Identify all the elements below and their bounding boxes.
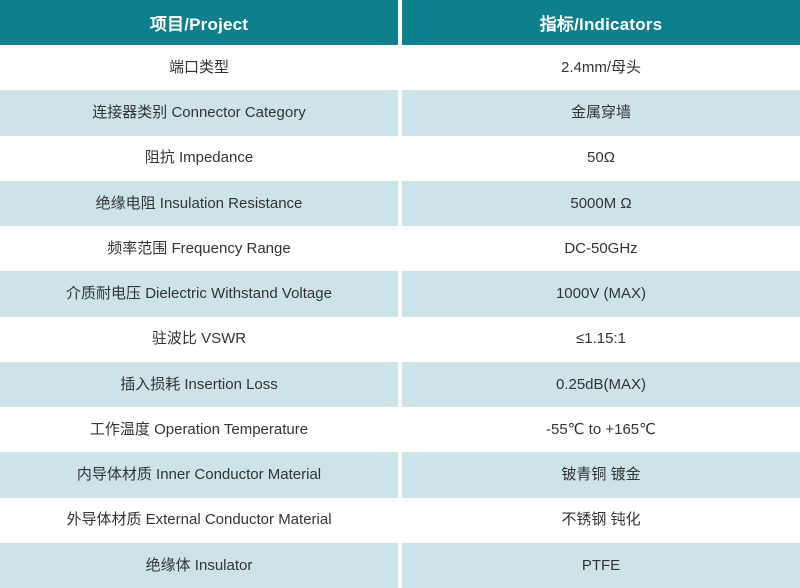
table-row: 介质耐电压 Dielectric Withstand Voltage1000V … — [0, 271, 800, 316]
cell-project: 介质耐电压 Dielectric Withstand Voltage — [0, 271, 398, 316]
cell-indicator: 不锈钢 钝化 — [402, 498, 800, 543]
cell-project: 阻抗 Impedance — [0, 136, 398, 181]
cell-indicator: 铍青铜 镀金 — [402, 452, 800, 497]
cell-project: 工作温度 Operation Temperature — [0, 407, 398, 452]
table-row: 插入损耗 Insertion Loss0.25dB(MAX) — [0, 362, 800, 407]
cell-project: 端口类型 — [0, 45, 398, 90]
table-body: 端口类型2.4mm/母头连接器类别 Connector Category金属穿墙… — [0, 45, 800, 588]
cell-indicator: 0.25dB(MAX) — [402, 362, 800, 407]
table-row: 阻抗 Impedance50Ω — [0, 136, 800, 181]
table-row: 内导体材质 Inner Conductor Material铍青铜 镀金 — [0, 452, 800, 497]
table-row: 工作温度 Operation Temperature-55℃ to +165℃ — [0, 407, 800, 452]
cell-indicator: 2.4mm/母头 — [402, 45, 800, 90]
cell-project: 绝缘电阻 Insulation Resistance — [0, 181, 398, 226]
cell-indicator: 金属穿墙 — [402, 90, 800, 135]
cell-project: 插入损耗 Insertion Loss — [0, 362, 398, 407]
table-row: 绝缘电阻 Insulation Resistance5000M Ω — [0, 181, 800, 226]
table-row: 外导体材质 External Conductor Material不锈钢 钝化 — [0, 498, 800, 543]
cell-project: 频率范围 Frequency Range — [0, 226, 398, 271]
cell-project: 驻波比 VSWR — [0, 317, 398, 362]
cell-project: 绝缘体 Insulator — [0, 543, 398, 588]
cell-indicator: 1000V (MAX) — [402, 271, 800, 316]
cell-indicator: 5000M Ω — [402, 181, 800, 226]
table-row: 端口类型2.4mm/母头 — [0, 45, 800, 90]
table-row: 驻波比 VSWR≤1.15:1 — [0, 317, 800, 362]
table-header-row: 项目/Project 指标/Indicators — [0, 0, 800, 45]
table-row: 绝缘体 InsulatorPTFE — [0, 543, 800, 588]
table-row: 频率范围 Frequency RangeDC-50GHz — [0, 226, 800, 271]
cell-indicator: PTFE — [402, 543, 800, 588]
cell-indicator: ≤1.15:1 — [402, 317, 800, 362]
cell-project: 内导体材质 Inner Conductor Material — [0, 452, 398, 497]
cell-project: 连接器类别 Connector Category — [0, 90, 398, 135]
column-header-indicators: 指标/Indicators — [402, 0, 800, 45]
cell-indicator: 50Ω — [402, 136, 800, 181]
table-row: 连接器类别 Connector Category金属穿墙 — [0, 90, 800, 135]
cell-project: 外导体材质 External Conductor Material — [0, 498, 398, 543]
specification-table: 项目/Project 指标/Indicators 端口类型2.4mm/母头连接器… — [0, 0, 800, 588]
column-header-project: 项目/Project — [0, 0, 398, 45]
cell-indicator: -55℃ to +165℃ — [402, 407, 800, 452]
cell-indicator: DC-50GHz — [402, 226, 800, 271]
